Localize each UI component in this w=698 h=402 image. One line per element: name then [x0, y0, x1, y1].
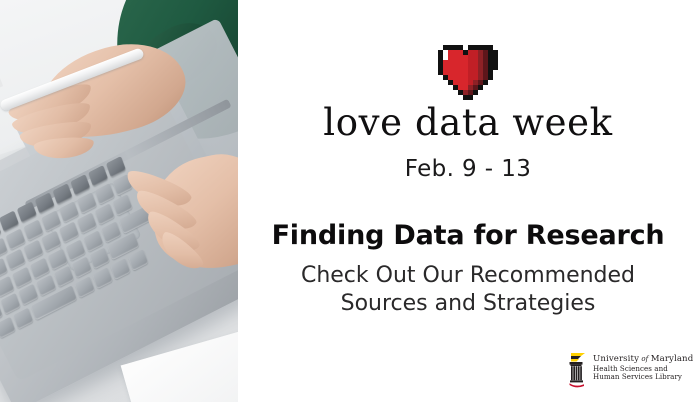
keyboard-key [92, 267, 112, 289]
keyboard-key [128, 249, 148, 271]
love-data-week-poster: love data week Feb. 9 - 13 Finding Data … [0, 0, 698, 402]
pixel-heart-icon [438, 45, 498, 100]
logo-of-word: of [639, 355, 651, 363]
hands-typing-on-laptop-photo [0, 0, 238, 402]
keyboard-key [13, 307, 33, 329]
logo-wordmark: University of Maryland Health Sciences a… [593, 352, 693, 381]
umb-library-logo: University of Maryland Health Sciences a… [568, 352, 693, 388]
keyboard-key [110, 258, 130, 280]
logo-line-human-services: Human Services Library [593, 373, 693, 381]
logo-university-word: University [593, 354, 639, 364]
keyboard-key [74, 276, 94, 298]
page-subtitle: Check Out Our Recommended Sources and St… [238, 262, 698, 318]
content-panel: love data week Feb. 9 - 13 Finding Data … [238, 0, 698, 402]
subtitle-line-2: Sources and Strategies [238, 290, 698, 318]
page-headline: Finding Data for Research [238, 222, 698, 249]
logo-maryland-word: Maryland [651, 354, 694, 364]
pixel-heart-container [238, 45, 698, 100]
subtitle-line-1: Check Out Our Recommended [238, 262, 698, 290]
keyboard-key [0, 316, 15, 338]
event-title: love data week [238, 104, 698, 141]
column-pillar-logo-icon [568, 352, 588, 388]
event-dates: Feb. 9 - 13 [238, 158, 698, 181]
